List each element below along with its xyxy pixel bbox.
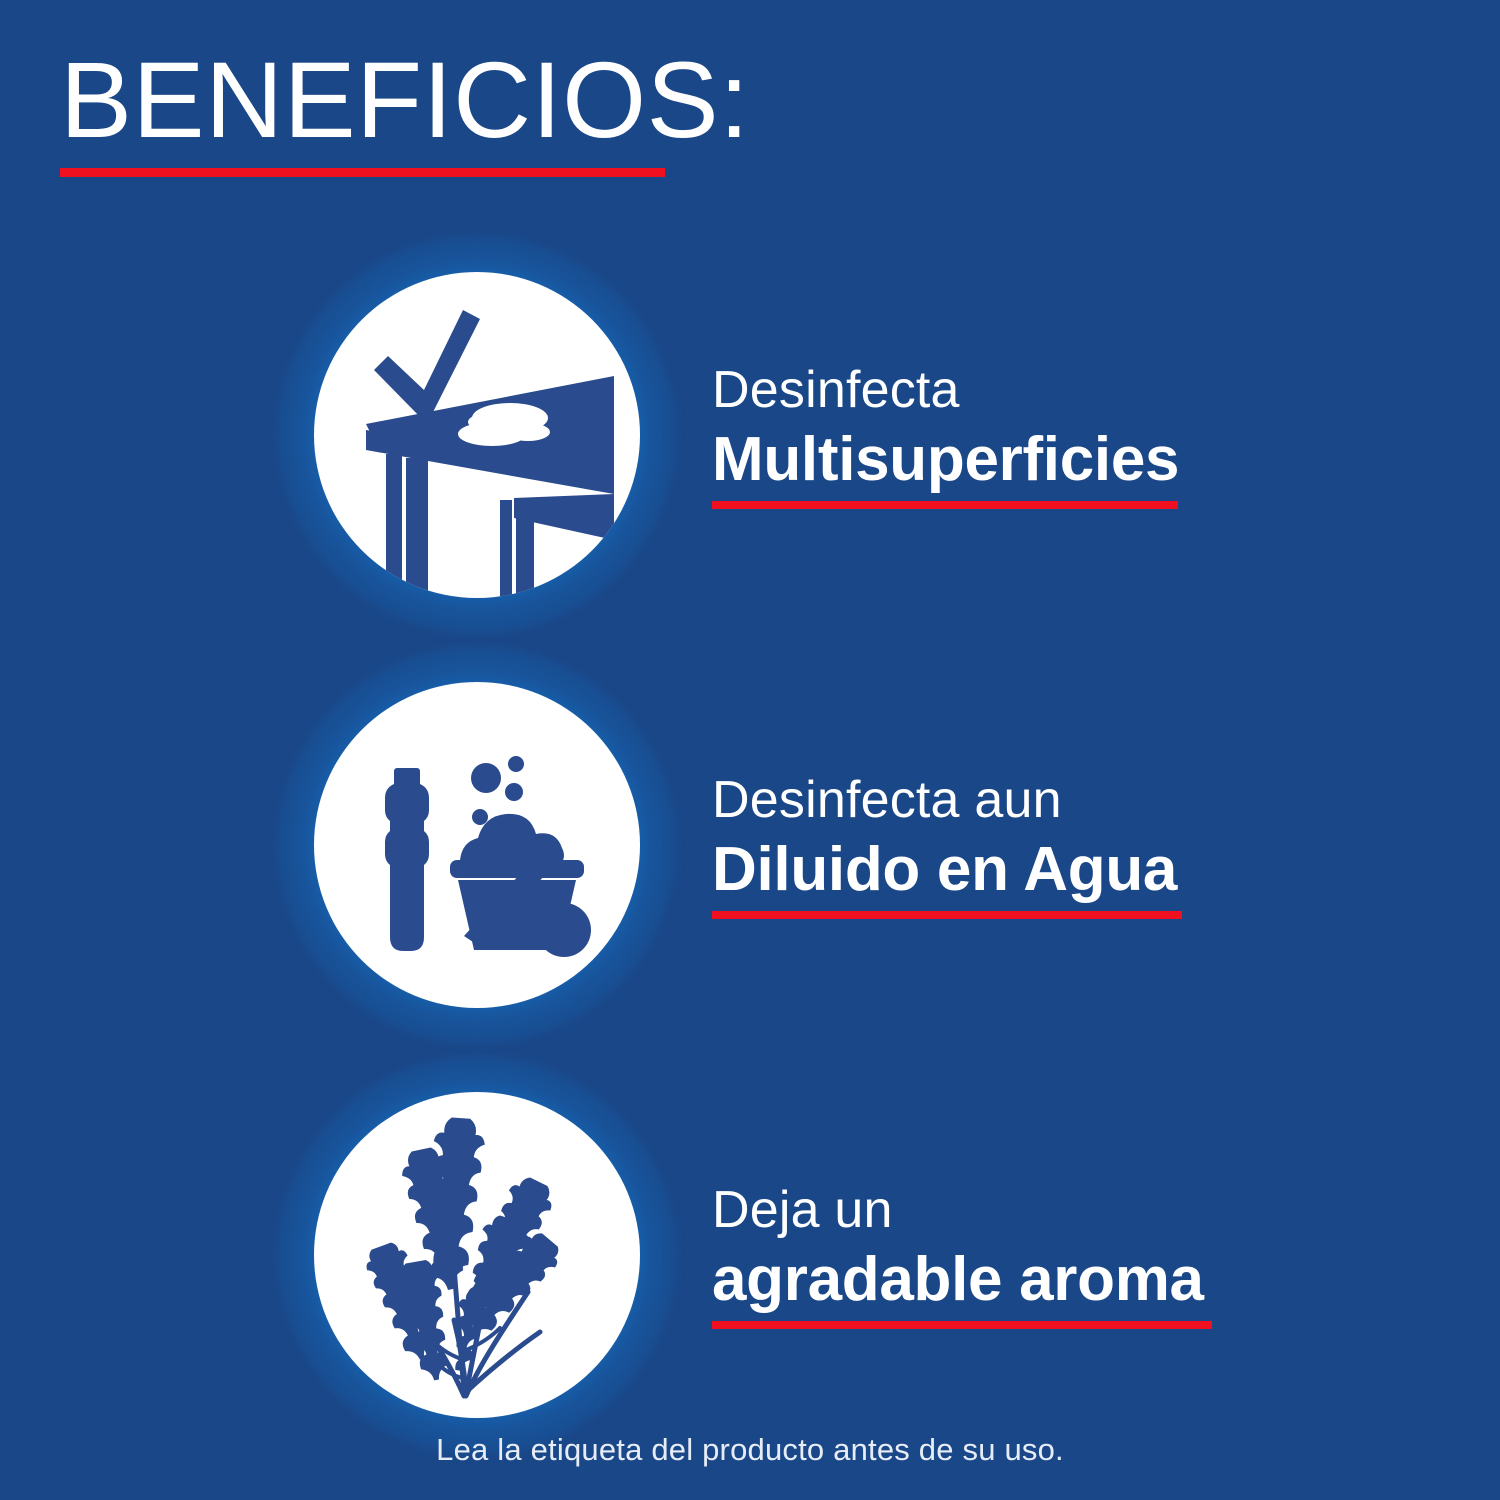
icon-circle-1 bbox=[314, 272, 640, 598]
benefit-line-top-3: Deja un bbox=[712, 1181, 1412, 1239]
benefit-icon-wrap-1 bbox=[277, 235, 677, 635]
bottle-bucket-bubbles-icon bbox=[314, 682, 640, 1008]
benefit-item-3: Deja un agradable aroma bbox=[0, 1045, 1500, 1465]
lavender-sprig-icon bbox=[314, 1092, 640, 1418]
benefit-item-1: Desinfecta Multisuperficies bbox=[0, 225, 1500, 645]
benefit-underline-2 bbox=[712, 911, 1182, 919]
benefit-icon-wrap-2 bbox=[277, 645, 677, 1045]
benefit-line-main-2: Diluido en Agua bbox=[712, 835, 1412, 904]
benefit-line-top-2: Desinfecta aun bbox=[712, 771, 1412, 829]
benefits-infographic: BENEFICIOS: bbox=[0, 0, 1500, 1500]
benefit-line-top-1: Desinfecta bbox=[712, 361, 1412, 419]
footer-disclaimer: Lea la etiqueta del producto antes de su… bbox=[0, 1432, 1500, 1468]
benefit-text-3: Deja un agradable aroma bbox=[712, 1045, 1412, 1465]
benefit-line-main-1: Multisuperficies bbox=[712, 425, 1412, 494]
benefit-item-2: Desinfecta aun Diluido en Agua bbox=[0, 635, 1500, 1055]
icon-circle-2 bbox=[314, 682, 640, 1008]
benefit-icon-wrap-3 bbox=[277, 1055, 677, 1455]
benefit-text-1: Desinfecta Multisuperficies bbox=[712, 225, 1412, 645]
icon-circle-3 bbox=[314, 1092, 640, 1418]
title-underline bbox=[60, 168, 665, 177]
page-title-block: BENEFICIOS: bbox=[60, 46, 960, 177]
benefit-underline-1 bbox=[712, 501, 1178, 509]
benefit-underline-3 bbox=[712, 1321, 1212, 1329]
page-title: BENEFICIOS: bbox=[60, 46, 960, 154]
table-surface-check-icon bbox=[314, 272, 640, 598]
benefit-line-main-3: agradable aroma bbox=[712, 1245, 1412, 1314]
benefit-text-2: Desinfecta aun Diluido en Agua bbox=[712, 635, 1412, 1055]
